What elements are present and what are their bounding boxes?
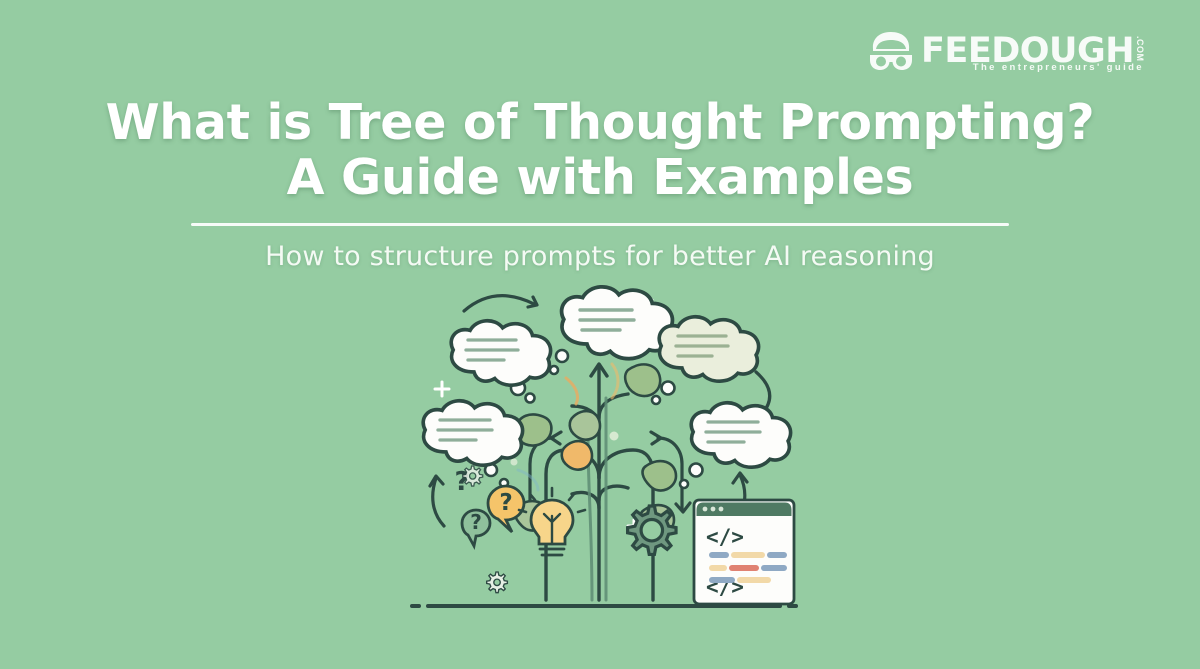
gear-icon-left-tiny <box>463 466 483 486</box>
code-window-glyph-top: </> <box>706 525 744 549</box>
title-divider <box>191 223 1009 226</box>
page-subtitle: How to structure prompts for better AI r… <box>0 241 1200 272</box>
thought-bubble-top-left <box>451 321 550 385</box>
brand-tagline: The entrepreneurs' guide <box>924 62 1144 73</box>
thought-bubble-mid-left <box>423 401 522 465</box>
tree-of-thought-illustration: ? ? ? <box>406 278 802 624</box>
gear-icon-left-small <box>487 572 508 593</box>
code-window: </> </> <box>694 500 794 604</box>
gear-icon-right-large <box>628 506 676 554</box>
headline-block: What is Tree of Thought Prompting? A Gui… <box>0 96 1200 272</box>
question-bubble-outline-glyph: ? <box>470 510 482 534</box>
thought-bubble-top-right <box>659 317 758 381</box>
page-title-line-2: A Guide with Examples <box>0 151 1200 206</box>
page-title-line-1: What is Tree of Thought Prompting? <box>0 96 1200 151</box>
feedough-face-glasses-icon <box>868 30 914 72</box>
thought-bubble-top-center <box>562 287 673 359</box>
thought-bubble-mid-right <box>691 403 790 467</box>
tree-structure <box>546 364 653 600</box>
brand-tld: .COM <box>1135 36 1144 62</box>
header-graphic-canvas: FEEDOUGH .COM The entrepreneurs' guide W… <box>0 0 1200 669</box>
question-bubble-amber-glyph: ? <box>499 490 512 516</box>
